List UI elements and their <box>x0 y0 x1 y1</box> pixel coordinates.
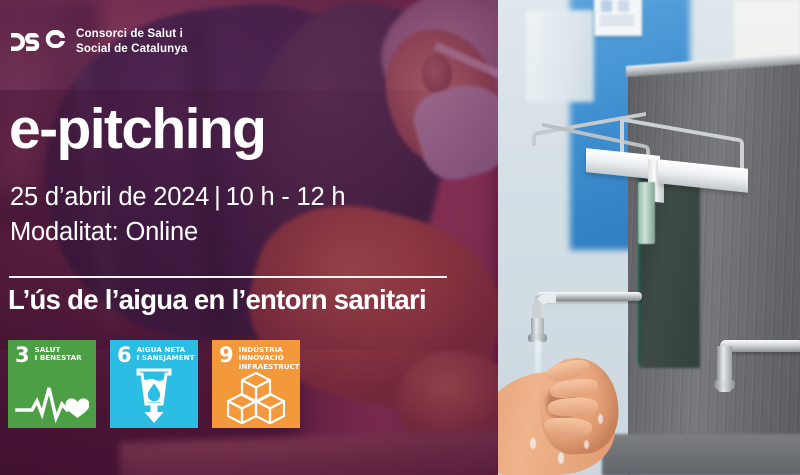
event-banner: Consorci de Salut i Social de Catalunya … <box>0 0 800 475</box>
csc-logo-mark <box>10 30 66 54</box>
wall-sign <box>594 0 642 36</box>
event-modality: Modalitat: Online <box>10 215 345 250</box>
sdg-badge-9-label: INDÚSTRIA INNOVACIÓ INFRAESTRUCTURES <box>239 346 300 371</box>
water-droplet <box>558 452 564 464</box>
brand-logo-text: Consorci de Salut i Social de Catalunya <box>76 27 187 57</box>
water-glass-icon <box>131 368 177 424</box>
sdg-badge-3-number: 3 <box>15 346 30 365</box>
tap-aerator-right <box>714 380 735 389</box>
soap-bottle <box>638 182 655 244</box>
event-time: 10 h - 12 h <box>226 183 346 211</box>
sdg-badge-row: 3 SALUT I BENESTAR <box>8 340 300 428</box>
sdg-badge-9-number: 9 <box>219 346 234 365</box>
sdg-badge-3-header: 3 SALUT I BENESTAR <box>15 346 82 365</box>
sdg-badge-6-header: 6 AIGUA NETA I SANEJAMENT <box>117 346 195 365</box>
page-title: e-pitching <box>9 101 265 158</box>
event-date: 25 d’abril de 2024 <box>10 183 209 211</box>
sdg-badge-9-header: 9 INDÚSTRIA INNOVACIÓ INFRAESTRUCTURES <box>219 346 300 371</box>
water-droplet <box>530 438 536 449</box>
sdg-badge-6-label: AIGUA NETA I SANEJAMENT <box>137 346 195 363</box>
sdg-badge-6-number: 6 <box>117 346 132 365</box>
steel-basin-lower <box>602 434 800 475</box>
left-panel: Consorci de Salut i Social de Catalunya … <box>0 0 498 475</box>
event-subtitle: L’ús de l’aigua en l’entorn sanitari <box>8 285 426 315</box>
water-droplet <box>584 440 589 449</box>
sdg-badge-6-label-line-2: I SANEJAMENT <box>137 354 195 362</box>
sdg-badge-3[interactable]: 3 SALUT I BENESTAR <box>8 340 96 428</box>
sdg-badge-9-art <box>212 372 300 424</box>
sdg-badge-9[interactable]: 9 INDÚSTRIA INNOVACIÓ INFRAESTRUCTURES <box>212 340 300 428</box>
sign-image-left <box>601 0 612 12</box>
sdg-badge-3-label-line-2: I BENESTAR <box>35 354 82 362</box>
brand-logo[interactable]: Consorci de Salut i Social de Catalunya <box>10 27 187 57</box>
event-datetime-line: 25 d’abril de 2024|10 h - 12 h <box>10 180 345 215</box>
sign-image-right <box>618 0 629 12</box>
event-meta: 25 d’abril de 2024|10 h - 12 h Modalitat… <box>10 180 345 249</box>
brand-name-line-1: Consorci de Salut i <box>76 27 187 42</box>
sdg-badge-6-art <box>110 368 198 424</box>
divider <box>9 276 447 278</box>
wall-dispenser <box>526 10 594 102</box>
left-panel-content: Consorci de Salut i Social de Catalunya … <box>0 0 498 475</box>
brand-name-line-2: Social de Catalunya <box>76 42 187 57</box>
sdg-badge-9-label-line-3: INFRAESTRUCTURES <box>239 363 300 371</box>
tap-lever-right <box>720 340 800 352</box>
meta-separator: | <box>209 183 225 211</box>
heartbeat-icon <box>15 384 89 424</box>
sdg-badge-3-art <box>8 384 96 424</box>
sdg-badge-3-label: SALUT I BENESTAR <box>35 346 82 363</box>
cubes-icon <box>227 372 285 424</box>
handwashing-photo <box>498 0 800 475</box>
sign-text-lines <box>600 16 634 27</box>
sdg-badge-6[interactable]: 6 AIGUA NETA I SANEJAMENT <box>110 340 198 428</box>
water-droplet <box>598 414 603 424</box>
